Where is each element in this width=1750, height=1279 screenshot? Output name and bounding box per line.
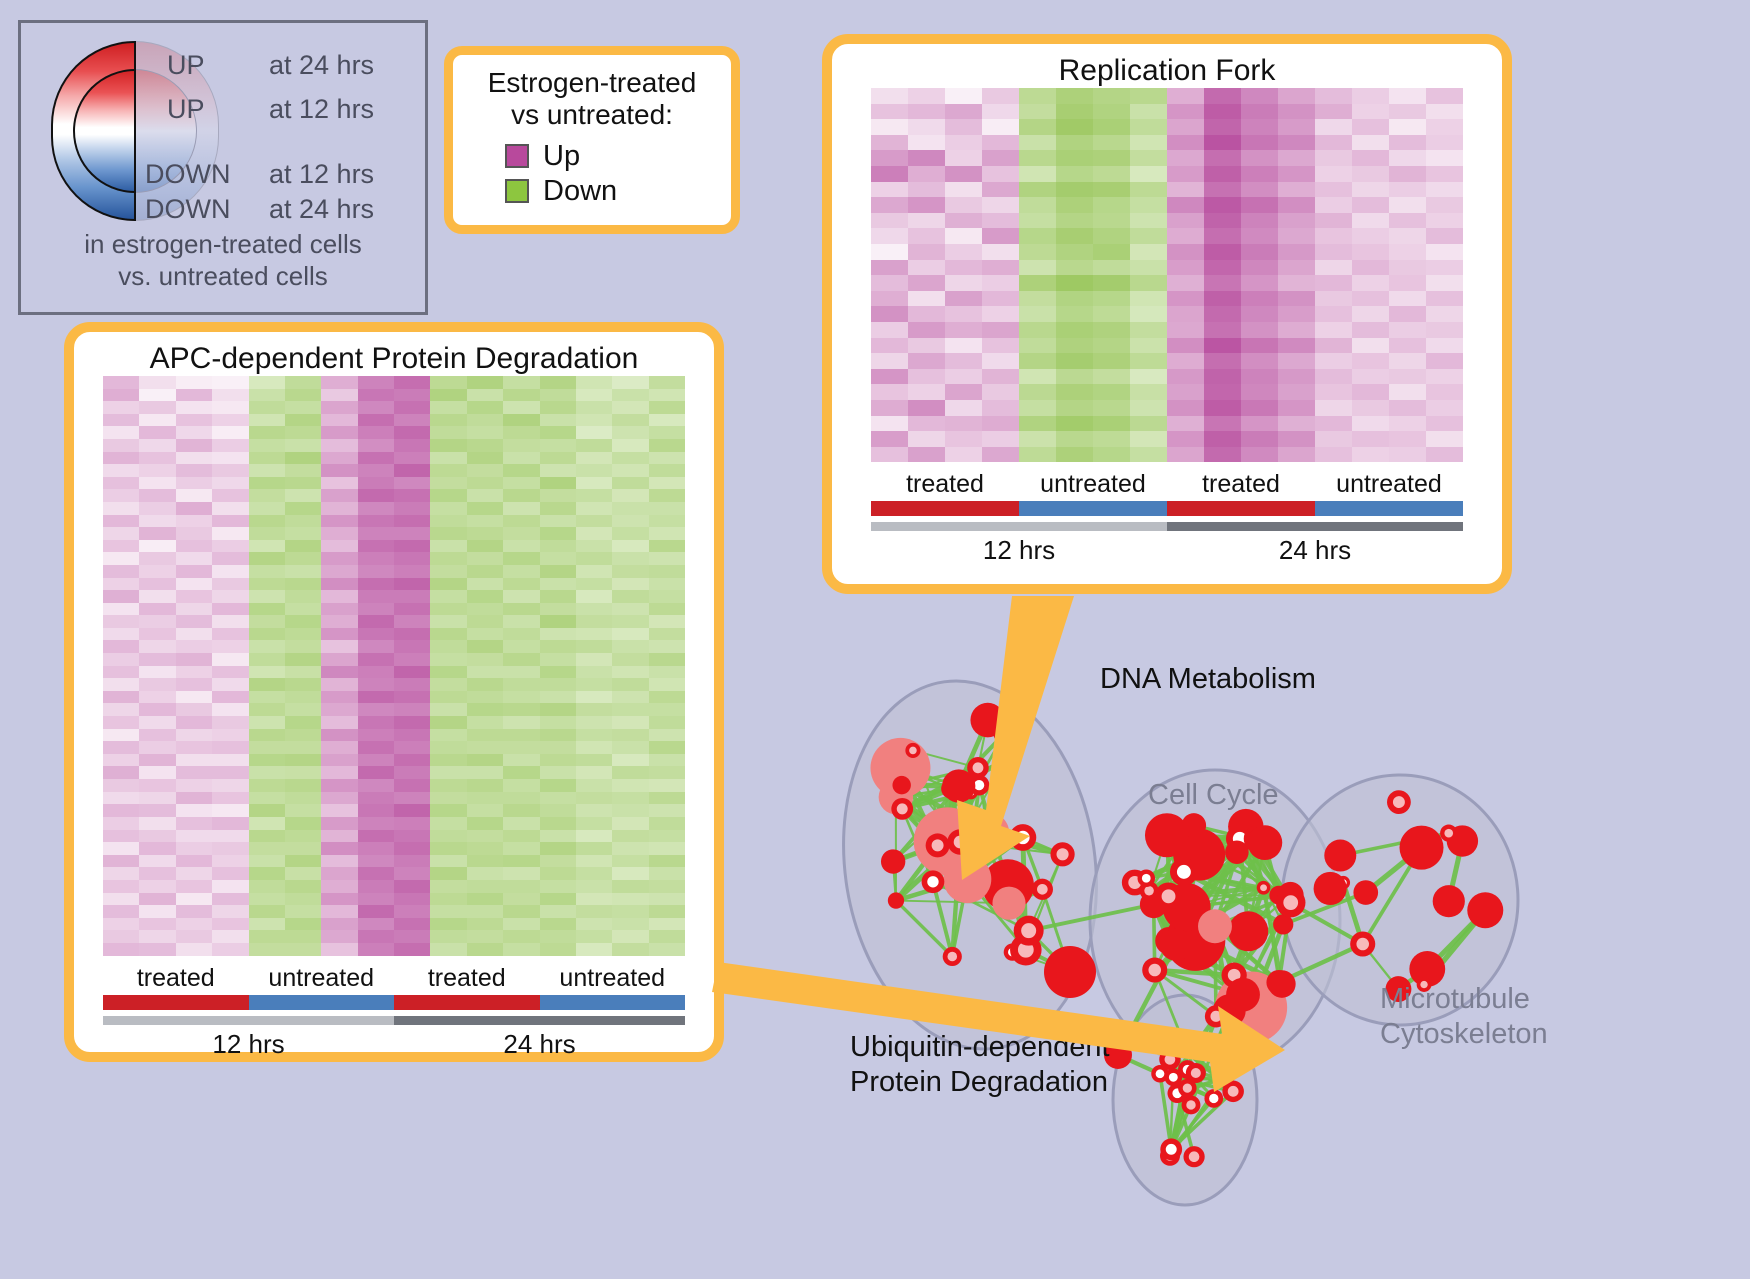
heatmap-cell <box>212 678 248 691</box>
heatmap-cell <box>540 867 576 880</box>
sample-group-bar-segment <box>871 501 1019 516</box>
heatmap-cell <box>467 666 503 679</box>
network-node[interactable] <box>1044 946 1096 998</box>
heatmap-cell <box>176 628 212 641</box>
heatmap-cell <box>285 893 321 906</box>
heatmap-cell <box>540 943 576 956</box>
heatmap-cell <box>612 867 648 880</box>
heatmap-cell <box>358 880 394 893</box>
group-label: untreated <box>1019 470 1167 499</box>
heatmap-cell <box>1204 306 1241 322</box>
heatmap-cell <box>103 893 139 906</box>
heatmap-cell <box>612 779 648 792</box>
heatmap-cell <box>321 943 357 956</box>
heatmap-cell <box>212 691 248 704</box>
heatmap-cell <box>358 729 394 742</box>
heatmap-cell <box>503 691 539 704</box>
heatmap-cell <box>982 119 1019 135</box>
heatmap-cell <box>576 830 612 843</box>
heatmap-cell <box>394 590 430 603</box>
heatmap-cell <box>1352 338 1389 354</box>
legend-footer-line2: vs. untreated cells <box>21 261 425 293</box>
heatmap-cell <box>358 666 394 679</box>
heatmap-cell <box>249 943 285 956</box>
heatmap-cell <box>1426 447 1463 463</box>
heatmap-cell <box>1167 416 1204 432</box>
heatmap-cell <box>649 666 685 679</box>
heatmap-cell <box>576 628 612 641</box>
heatmap-cell <box>576 842 612 855</box>
heatmap-cell <box>649 893 685 906</box>
heatmap-cell <box>612 855 648 868</box>
heatmap-cell <box>576 502 612 515</box>
heatmap-cell <box>249 678 285 691</box>
group-label: untreated <box>1315 470 1463 499</box>
heatmap-cell <box>503 880 539 893</box>
heatmap-cell <box>358 590 394 603</box>
heatmap-cell <box>430 830 466 843</box>
heatmap-cell <box>249 855 285 868</box>
heatmap-cell <box>212 867 248 880</box>
heatmap-cell <box>1389 353 1426 369</box>
heatmap-cell <box>212 489 248 502</box>
heatmap-cell <box>139 817 175 830</box>
heatmap-cell <box>1204 119 1241 135</box>
heatmap-cell <box>908 369 945 385</box>
network-node[interactable] <box>1247 825 1282 860</box>
heatmap-cell <box>649 489 685 502</box>
heatmap-cell <box>1093 353 1130 369</box>
heatmap-cell <box>503 615 539 628</box>
network-node[interactable] <box>965 812 1009 856</box>
heatmap-cell <box>430 703 466 716</box>
heatmap-cell <box>467 389 503 402</box>
heatmap-cell <box>467 653 503 666</box>
heatmap-cell <box>576 741 612 754</box>
heatmap-cell <box>1278 166 1315 182</box>
heatmap-cell <box>649 741 685 754</box>
heatmap-cell <box>103 880 139 893</box>
heatmap-cell <box>576 817 612 830</box>
heatmap-cell <box>649 804 685 817</box>
heatmap-cell <box>1389 416 1426 432</box>
network-node[interactable] <box>1353 880 1378 905</box>
heatmap-cell <box>249 452 285 465</box>
network-node[interactable] <box>1228 911 1268 951</box>
heatmap-cell <box>1315 213 1352 229</box>
heatmap-cell <box>1019 119 1056 135</box>
heatmap-cell <box>285 867 321 880</box>
heatmap-cell <box>612 603 648 616</box>
heatmap-cell <box>430 540 466 553</box>
heatmap-cell <box>212 943 248 956</box>
heatmap-cell <box>649 905 685 918</box>
heatmap-cell <box>871 384 908 400</box>
heatmap-cell <box>1389 275 1426 291</box>
heatmap-cell <box>649 414 685 427</box>
heatmap-cell <box>649 603 685 616</box>
heatmap-cell <box>1241 182 1278 198</box>
heatmap-cell <box>576 792 612 805</box>
group-label: treated <box>394 964 540 993</box>
network-node[interactable] <box>881 849 905 873</box>
heatmap-cell <box>1019 338 1056 354</box>
heatmap-cell <box>430 855 466 868</box>
heatmap-cell <box>1093 260 1130 276</box>
time-label: 12 hrs <box>871 535 1167 566</box>
heatmap-cell <box>467 477 503 490</box>
network-node-core <box>1189 1151 1200 1162</box>
heatmap-cell <box>540 477 576 490</box>
heatmap-cell <box>1352 166 1389 182</box>
heatmap-cell <box>540 452 576 465</box>
heatmap-cell <box>1167 150 1204 166</box>
heatmap-cell <box>285 389 321 402</box>
heatmap-cell <box>249 842 285 855</box>
heatmap-cell <box>503 930 539 943</box>
heatmap-cell <box>503 754 539 767</box>
network-node-core <box>1218 1074 1226 1082</box>
heatmap-cell <box>1241 369 1278 385</box>
heatmap-cell <box>467 880 503 893</box>
heatmap-cell <box>612 527 648 540</box>
heatmap-cell <box>1204 213 1241 229</box>
network-node[interactable] <box>1324 840 1356 872</box>
heatmap-cell <box>285 489 321 502</box>
heatmap-cell <box>1093 135 1130 151</box>
heatmap-cell <box>1093 150 1130 166</box>
heatmap-cell <box>1241 213 1278 229</box>
heatmap-cell <box>467 930 503 943</box>
network-node[interactable] <box>970 703 1005 738</box>
heatmap-cell <box>285 678 321 691</box>
heatmap-cell <box>1352 291 1389 307</box>
heatmap-cell <box>1056 228 1093 244</box>
heatmap-cell <box>358 439 394 452</box>
network-node-core <box>974 780 984 790</box>
heatmap-cell <box>1278 182 1315 198</box>
heatmap-cell <box>1056 338 1093 354</box>
heatmap-cell <box>321 817 357 830</box>
network-node[interactable] <box>1467 892 1503 928</box>
heatmap-cell <box>249 565 285 578</box>
heatmap-cell <box>467 376 503 389</box>
heatmap-cell <box>649 792 685 805</box>
heatmap-cell <box>576 615 612 628</box>
heatmap-cell <box>576 489 612 502</box>
heatmap-cell <box>430 893 466 906</box>
heatmap-cell <box>1352 88 1389 104</box>
heatmap-cell <box>321 489 357 502</box>
heatmap-cell <box>1352 322 1389 338</box>
heatmap-cell <box>1389 369 1426 385</box>
heatmap-cell <box>540 515 576 528</box>
heatmap-cell <box>1167 104 1204 120</box>
heatmap-cell <box>908 322 945 338</box>
heatmap-cell <box>394 640 430 653</box>
heatmap-cell <box>139 401 175 414</box>
network-node[interactable] <box>892 776 910 794</box>
heatmap-cell <box>540 842 576 855</box>
figure-canvas: UP at 24 hrs UP at 12 hrs DOWN at 12 hrs… <box>0 0 1750 1279</box>
heatmap-cell <box>1130 135 1167 151</box>
heatmap-cell <box>908 416 945 432</box>
heatmap-cell <box>1241 338 1278 354</box>
heatmap-cell <box>212 477 248 490</box>
heatmap-cell <box>1241 447 1278 463</box>
network-node[interactable] <box>1226 978 1260 1012</box>
time-group-bar-segment <box>871 522 1167 531</box>
heatmap-cell <box>103 918 139 931</box>
heatmap-cell <box>1056 213 1093 229</box>
heatmap-cell <box>1093 400 1130 416</box>
heatmap-cell <box>1426 88 1463 104</box>
heatmap-cell <box>1093 275 1130 291</box>
heatmap-cell <box>612 804 648 817</box>
heatmap-cell <box>176 842 212 855</box>
heatmap-cell <box>139 842 175 855</box>
heatmap-cell <box>540 804 576 817</box>
network-node[interactable] <box>1198 909 1232 943</box>
heatmap-cell <box>1315 322 1352 338</box>
key-time-1: at 12 hrs <box>269 94 374 125</box>
heatmap-cell <box>430 918 466 931</box>
heatmap-cell <box>982 384 1019 400</box>
heatmap-cell <box>1241 353 1278 369</box>
heatmap-cell <box>139 590 175 603</box>
heatmap-cell <box>1389 322 1426 338</box>
heatmap-cell <box>540 628 576 641</box>
heatmap-cell <box>103 842 139 855</box>
heatmap-cell <box>1019 150 1056 166</box>
heatmap-cell <box>139 729 175 742</box>
network-node[interactable] <box>888 892 904 908</box>
heatmap-cell <box>1019 213 1056 229</box>
heatmap-cell <box>649 817 685 830</box>
heatmap-cell <box>212 716 248 729</box>
network-node-core <box>1156 1069 1165 1078</box>
heatmap-cell <box>249 880 285 893</box>
heatmap-cell <box>467 678 503 691</box>
heatmap-cell <box>1056 275 1093 291</box>
heatmap-cell <box>249 867 285 880</box>
heatmap-cell <box>212 527 248 540</box>
heatmap-cell <box>576 426 612 439</box>
cluster-label-cell-cycle: Cell Cycle <box>1148 778 1279 813</box>
heatmap-cell <box>1093 119 1130 135</box>
heatmap-cell <box>871 306 908 322</box>
heatmap-cell <box>1278 291 1315 307</box>
network-node[interactable] <box>1314 872 1347 905</box>
key-state-3: DOWN <box>145 194 230 225</box>
heatmap-cell <box>321 766 357 779</box>
heatmap-cell <box>540 830 576 843</box>
heatmap-cell <box>1426 244 1463 260</box>
heatmap-cell <box>612 703 648 716</box>
heatmap-cell <box>430 615 466 628</box>
heatmap-cell <box>945 353 982 369</box>
network-node[interactable] <box>943 855 991 903</box>
heatmap-cell <box>212 666 248 679</box>
heatmap-cell <box>1426 384 1463 400</box>
heatmap-cell <box>1019 322 1056 338</box>
group-labels-replication-fork: treateduntreatedtreateduntreated <box>871 470 1463 499</box>
heatmap-cell <box>249 489 285 502</box>
heatmap-cell <box>649 842 685 855</box>
network-node[interactable] <box>1145 813 1189 857</box>
heatmap-cell <box>1426 119 1463 135</box>
key-time-0: at 24 hrs <box>269 50 374 81</box>
heatmap-cell <box>1130 260 1167 276</box>
legend-down-label: Down <box>543 175 617 208</box>
heatmap-cell <box>1389 338 1426 354</box>
heatmap-cell <box>649 716 685 729</box>
heatmap-cell <box>1426 104 1463 120</box>
heatmap-cell <box>982 353 1019 369</box>
heatmap-cell <box>467 804 503 817</box>
heatmap-cell <box>394 565 430 578</box>
heatmap-cell <box>430 766 466 779</box>
heatmap-cell <box>871 260 908 276</box>
group-label: treated <box>1167 470 1315 499</box>
network-node[interactable] <box>1182 813 1207 838</box>
heatmap-cell <box>1315 447 1352 463</box>
heatmap-cell <box>394 741 430 754</box>
heatmap-cell <box>612 376 648 389</box>
heatmap-cell <box>467 578 503 591</box>
heatmap-cell <box>503 464 539 477</box>
heatmap-cell <box>982 306 1019 322</box>
heatmap-cell <box>649 653 685 666</box>
heatmap-cell <box>176 678 212 691</box>
heatmap-cell <box>1204 291 1241 307</box>
heatmap-cell <box>176 452 212 465</box>
heatmap-cell <box>394 477 430 490</box>
heatmap-cell <box>945 150 982 166</box>
legend-circle-footer: in estrogen-treated cells vs. untreated … <box>21 229 425 292</box>
heatmap-cell <box>394 452 430 465</box>
heatmap-cell <box>540 792 576 805</box>
heatmap-cell <box>503 502 539 515</box>
heatmap-cell <box>467 502 503 515</box>
heatmap-cell <box>908 338 945 354</box>
heatmap-cell <box>1315 400 1352 416</box>
heatmap-cell <box>103 389 139 402</box>
heatmap-cell <box>1056 260 1093 276</box>
up-swatch-icon <box>505 144 529 168</box>
heatmap-cell <box>945 291 982 307</box>
heatmap-cell <box>467 565 503 578</box>
heatmap-cell <box>1056 104 1093 120</box>
heatmap-cell <box>1278 447 1315 463</box>
heatmap-cell <box>103 691 139 704</box>
heatmap-cell <box>467 918 503 931</box>
heatmap-cell <box>1167 447 1204 463</box>
heatmap-cell <box>1241 244 1278 260</box>
heatmap-cell <box>540 603 576 616</box>
network-node[interactable] <box>1160 928 1193 961</box>
heatmap-cell <box>139 678 175 691</box>
heatmap-cell <box>1167 384 1204 400</box>
network-node[interactable] <box>1400 826 1444 870</box>
heatmap-cell <box>321 502 357 515</box>
heatmap-cell <box>321 389 357 402</box>
heatmap-cell <box>871 166 908 182</box>
heatmap-cell <box>139 867 175 880</box>
heatmap-cell <box>612 628 648 641</box>
heatmap-cell <box>467 401 503 414</box>
heatmap-cell <box>249 653 285 666</box>
heatmap-cell <box>1278 244 1315 260</box>
heatmap-cell <box>467 867 503 880</box>
heatmap-cell <box>394 552 430 565</box>
sample-color-bar-replication-fork <box>871 501 1463 516</box>
heatmap-cell <box>285 502 321 515</box>
network-node[interactable] <box>1268 970 1296 998</box>
heatmap-cell <box>1019 291 1056 307</box>
heatmap-cell <box>358 943 394 956</box>
heatmap-cell <box>945 228 982 244</box>
heatmap-cell <box>1130 431 1167 447</box>
heatmap-cell <box>1167 88 1204 104</box>
heatmap-cell <box>285 414 321 427</box>
heatmap-cell <box>394 766 430 779</box>
heatmap-cell <box>212 804 248 817</box>
heatmap-cell <box>540 741 576 754</box>
time-labels-apc-degradation: 12 hrs24 hrs <box>103 1029 685 1060</box>
group-label: treated <box>871 470 1019 499</box>
heatmap-cell <box>321 905 357 918</box>
heatmap-cell <box>285 464 321 477</box>
heatmap-cell <box>103 628 139 641</box>
heatmap-cell <box>394 867 430 880</box>
heatmap-cell <box>103 653 139 666</box>
heatmap-cell <box>1426 260 1463 276</box>
heatmap-cell <box>1352 244 1389 260</box>
heatmap-cell <box>212 741 248 754</box>
heatmap-cell <box>908 135 945 151</box>
heatmap-cell <box>649 578 685 591</box>
key-state-0: UP <box>167 50 205 81</box>
heatmap-cell <box>649 943 685 956</box>
network-node[interactable] <box>992 887 1025 920</box>
heatmap-cell <box>103 401 139 414</box>
heatmap-cell <box>1278 416 1315 432</box>
heatmap-cell <box>576 401 612 414</box>
network-node-core <box>1191 1068 1201 1078</box>
heatmap-cell <box>576 527 612 540</box>
heatmap-cell <box>285 376 321 389</box>
heatmap-cell <box>612 918 648 931</box>
network-node[interactable] <box>1433 885 1465 917</box>
heatmap-cell <box>139 792 175 805</box>
heatmap-cell <box>358 426 394 439</box>
heatmap-cell <box>1019 166 1056 182</box>
heatmap-cell <box>212 590 248 603</box>
heatmap-cell <box>1093 166 1130 182</box>
heatmap-cell <box>1241 228 1278 244</box>
heatmap-cell <box>212 855 248 868</box>
heatmap-cell <box>394 855 430 868</box>
heatmap-cell <box>1278 306 1315 322</box>
heatmap-cell <box>285 666 321 679</box>
heatmap-cell <box>1093 182 1130 198</box>
heatmap-cell <box>430 590 466 603</box>
heatmap-cell <box>908 447 945 463</box>
heatmap-cell <box>1204 400 1241 416</box>
heatmap-cell <box>871 338 908 354</box>
heatmap-cell <box>103 590 139 603</box>
